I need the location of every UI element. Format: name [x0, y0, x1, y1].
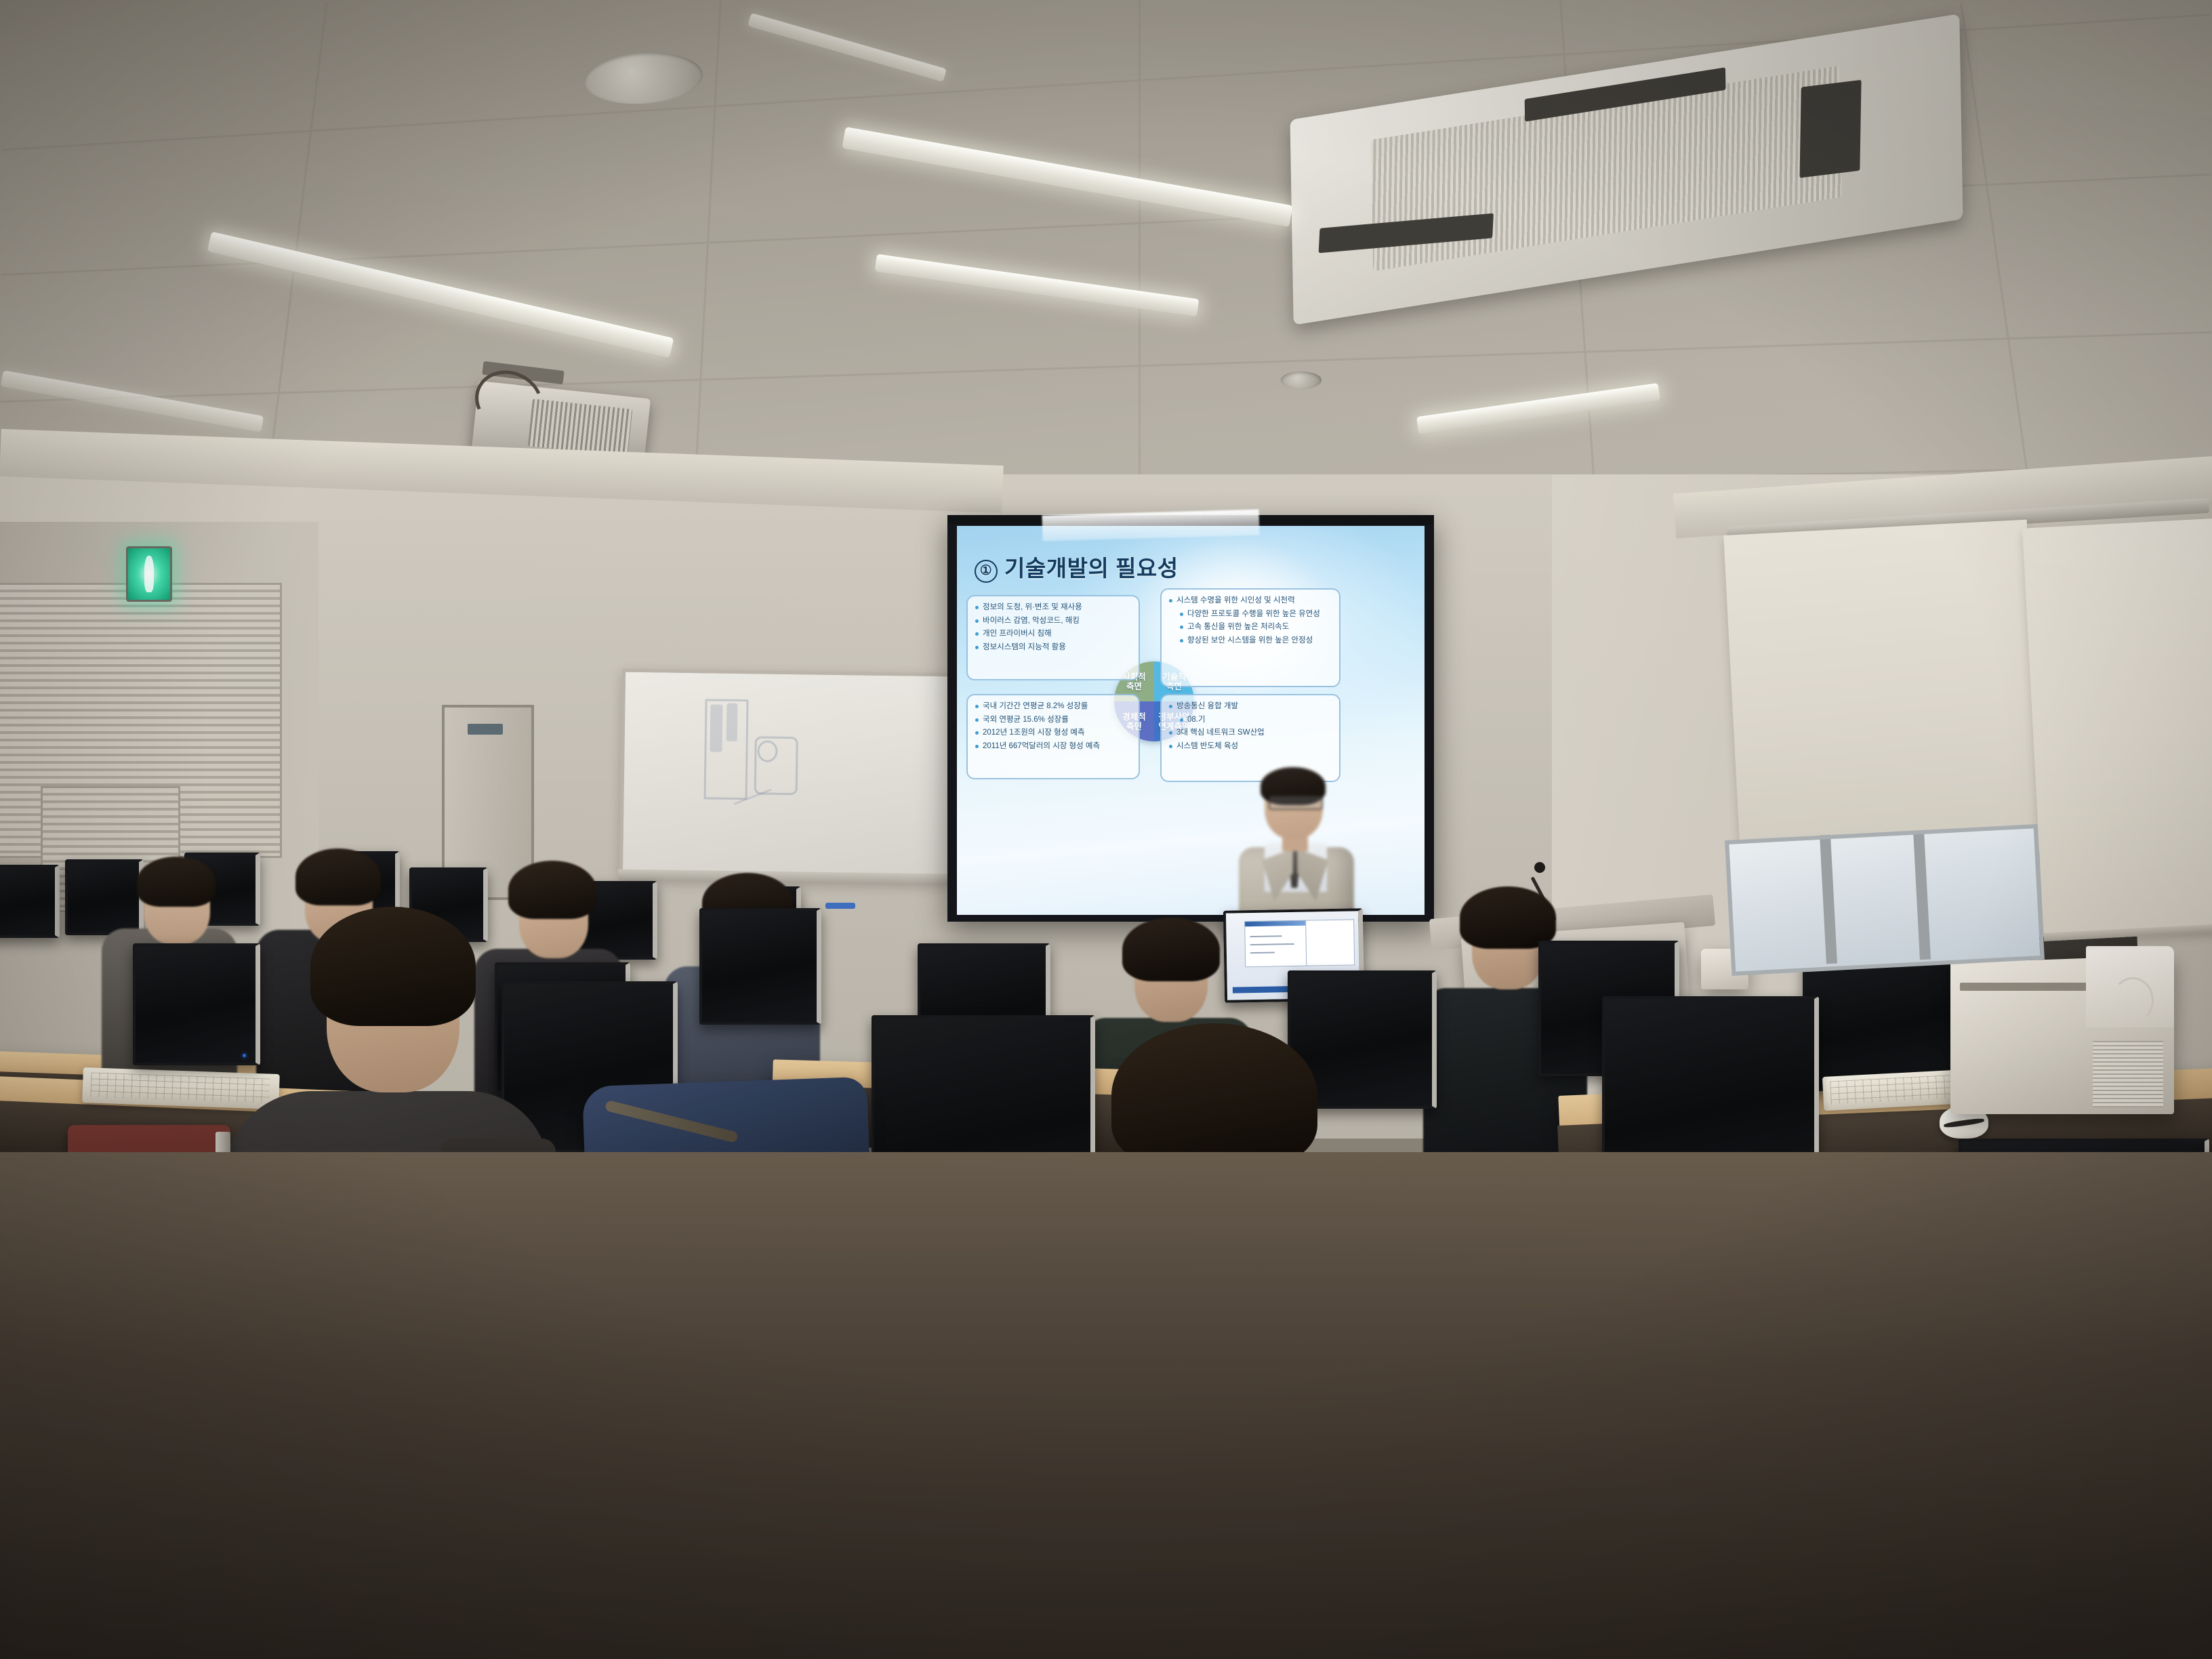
roller-blind-right[interactable] — [2022, 518, 2212, 941]
slide-bullet: 08.기 — [1180, 715, 1332, 726]
slide-box-technical: 시스템 수명을 위한 시인성 및 시천력다양한 프로토콜 수행을 위한 높은 유… — [1160, 588, 1340, 687]
slide-bullet: 3대 핵심 네트워크 SW산업 — [1169, 728, 1332, 739]
printer-output-tray — [1960, 983, 2095, 991]
presenter-glasses-icon — [1269, 796, 1323, 810]
slide-bullet: 바이러스 감염, 악성코드, 해킹 — [975, 616, 1131, 627]
technical-list: 시스템 수명을 위한 시인성 및 시천력다양한 프로토콜 수행을 위한 높은 유… — [1169, 596, 1332, 646]
slide-bullet: 방송통신 융합 개발 — [1169, 701, 1332, 712]
slide-bullet: 국내 기간간 연평균 8.2% 성장률 — [975, 701, 1131, 712]
slide-bullet: 고속 통신을 위한 높은 처리속도 — [1180, 622, 1332, 633]
floor — [0, 1152, 2212, 1659]
student-hair — [310, 907, 476, 1026]
printer-cable — [2112, 977, 2154, 1023]
student-hair — [1111, 1023, 1317, 1168]
slide-bullet: 정보시스템의 지능적 활용 — [975, 642, 1131, 653]
window-frame — [1725, 824, 2045, 976]
student-hair — [1122, 918, 1220, 981]
monitor-window-2 — [1305, 919, 1355, 966]
slide-bullet: 개인 프라이버시 침해 — [975, 629, 1131, 640]
student-hair — [1460, 886, 1556, 949]
monitor-screen[interactable] — [699, 908, 821, 1025]
slide-bullet: 국외 연평균 15.6% 성장률 — [975, 715, 1131, 726]
whiteboard-sketch-3 — [726, 703, 738, 741]
monitor-screen[interactable] — [0, 865, 60, 938]
slide-bullet: 2011년 667억달러의 시장 형성 예측 — [975, 741, 1131, 752]
slide-bullet: 시스템 수명을 위한 시인성 및 시천력 — [1169, 596, 1332, 607]
slide-number: ① — [975, 560, 998, 583]
monitor-far-1 — [0, 865, 60, 938]
slide-bullet: 2012년 1조원의 시장 형성 예측 — [975, 728, 1131, 739]
door-room-sign — [468, 724, 503, 735]
projector-vent — [527, 398, 632, 456]
slide-bullet: 정보의 도청, 위·변조 및 재사용 — [975, 602, 1131, 613]
classroom-photo: ①기술개발의 필요성 사회적측면 기술적측면 경제적측면 정부사업연계측면 정보… — [0, 0, 2212, 1659]
government-list: 방송통신 융합 개발08.기3대 핵심 네트워크 SW산업시스템 반도체 육성 — [1169, 701, 1332, 752]
slide-title: ①기술개발의 필요성 — [975, 550, 1179, 583]
printer-vents — [2093, 1041, 2163, 1107]
student-hair — [137, 857, 216, 907]
ac-vent-right — [1799, 80, 1861, 178]
slide-bullet: 다양한 프로토콜 수행을 위한 높은 유연성 — [1180, 609, 1332, 620]
economic-list: 국내 기간간 연평균 8.2% 성장률국외 연평균 15.6% 성장률2012년… — [975, 701, 1131, 752]
whiteboard-sketch-2 — [710, 704, 722, 752]
emergency-exit-icon — [126, 546, 172, 602]
slide-bullet: 향상된 보안 시스템을 위한 높은 안정성 — [1180, 636, 1332, 647]
whiteboard — [619, 669, 954, 884]
backpack-stripe — [605, 1100, 739, 1143]
slide-box-government: 방송통신 융합 개발08.기3대 핵심 네트워크 SW산업시스템 반도체 육성 — [1160, 694, 1340, 782]
roller-blind-left[interactable] — [1723, 520, 2045, 874]
laser-printer-copier — [1950, 951, 2174, 1114]
slide-box-social: 정보의 도청, 위·변조 및 재사용바이러스 감염, 악성코드, 해킹개인 프라… — [966, 595, 1140, 680]
slide-box-economic: 국내 기간간 연평균 8.2% 성장률국외 연평균 15.6% 성장률2012년… — [966, 694, 1140, 779]
social-list: 정보의 도청, 위·변조 및 재사용바이러스 감염, 악성코드, 해킹개인 프라… — [975, 602, 1131, 653]
projection-screen: ①기술개발의 필요성 사회적측면 기술적측면 경제적측면 정부사업연계측면 정보… — [947, 515, 1434, 922]
slide-title-text: 기술개발의 필요성 — [1004, 556, 1179, 581]
monitor-mid-3 — [699, 908, 821, 1025]
smoke-detector — [1281, 371, 1322, 389]
slide-bullet: 시스템 반도체 육성 — [1169, 741, 1332, 752]
